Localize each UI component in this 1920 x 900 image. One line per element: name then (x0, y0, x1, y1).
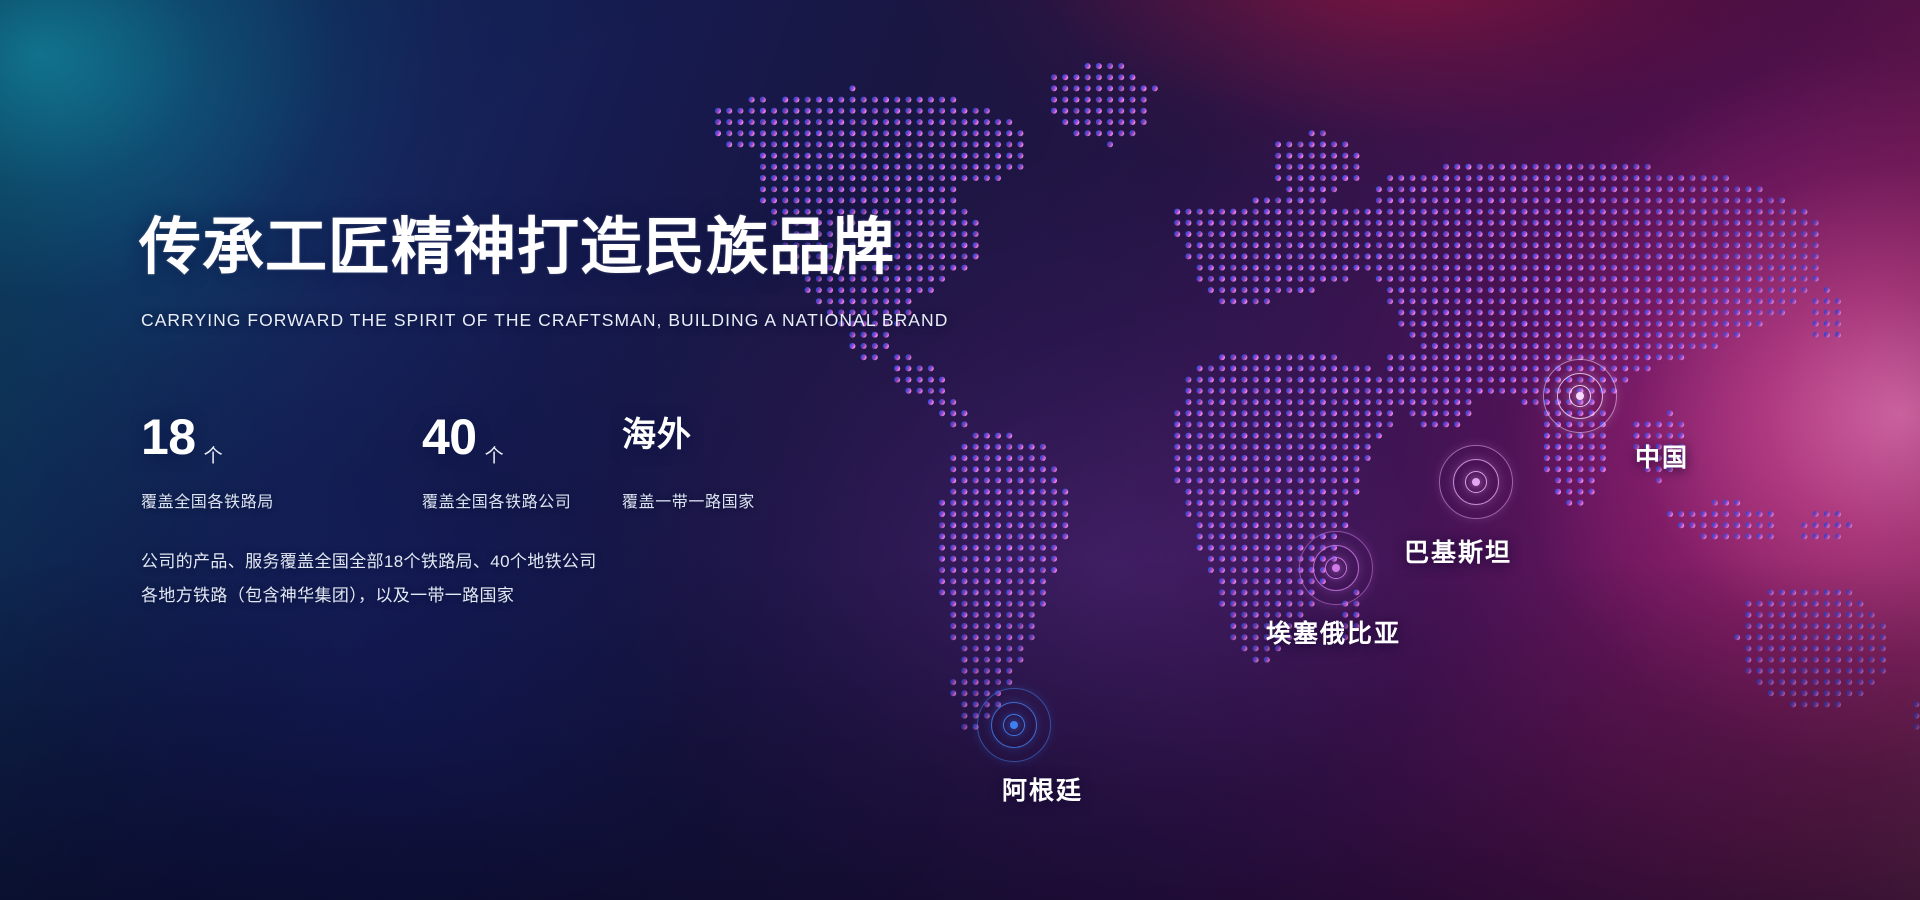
map-marker-ethiopia[interactable] (1286, 518, 1386, 618)
stat-value-row: 18 个 (141, 412, 422, 470)
map-marker-label-china: 中国 (1635, 438, 1689, 474)
page-subtitle: CARRYING FORWARD THE SPIRIT OF THE CRAFT… (141, 310, 948, 331)
map-marker-argentina[interactable] (964, 675, 1064, 775)
stat-value: 18 (141, 412, 196, 462)
map-marker-label-ethiopia: 埃塞俄比亚 (1266, 614, 1401, 650)
body-paragraph: 公司的产品、服务覆盖全国全部18个铁路局、40个地铁公司 各地方铁路（包含神华集… (141, 545, 597, 613)
stat-value: 海外 (622, 418, 692, 452)
map-marker-china[interactable] (1530, 346, 1630, 446)
marker-pulse-rings-icon (1426, 432, 1526, 532)
map-marker-pakistan[interactable] (1426, 432, 1526, 532)
marker-pulse-rings-icon (964, 675, 1064, 775)
marker-pulse-rings-icon (1286, 518, 1386, 618)
stat-block-railway-bureaus: 18 个 覆盖全国各铁路局 (141, 412, 422, 512)
marker-center-dot-icon (1576, 392, 1584, 400)
map-marker-label-argentina: 阿根廷 (1002, 771, 1083, 807)
page-title: 传承工匠精神打造民族品牌 (139, 196, 895, 286)
stat-value: 40 (422, 412, 477, 462)
marker-center-dot-icon (1472, 478, 1480, 486)
stat-unit: 个 (485, 447, 504, 466)
marker-center-dot-icon (1010, 721, 1018, 729)
body-line-1: 公司的产品、服务覆盖全国全部18个铁路局、40个地铁公司 (141, 545, 597, 579)
stat-unit: 个 (204, 447, 223, 466)
content-column: 传承工匠精神打造民族品牌 CARRYING FORWARD THE SPIRIT… (139, 0, 899, 900)
stat-block-overseas: 海外 覆盖一带一路国家 (622, 412, 755, 512)
stat-caption: 覆盖全国各铁路局 (141, 488, 422, 512)
stat-caption: 覆盖全国各铁路公司 (422, 488, 622, 512)
banner-stage: 阿根廷埃塞俄比亚巴基斯坦中国 传承工匠精神打造民族品牌 CARRYING FOR… (0, 0, 1920, 900)
map-marker-label-pakistan: 巴基斯坦 (1404, 533, 1512, 569)
stat-value-row: 海外 (622, 412, 755, 470)
stat-block-railway-companies: 40 个 覆盖全国各铁路公司 (422, 412, 622, 512)
body-line-2: 各地方铁路（包含神华集团），以及一带一路国家 (141, 579, 597, 613)
marker-center-dot-icon (1332, 564, 1340, 572)
stat-caption: 覆盖一带一路国家 (622, 488, 755, 512)
stat-value-row: 40 个 (422, 412, 622, 470)
stats-row: 18 个 覆盖全国各铁路局 40 个 覆盖全国各铁路公司 海外 覆盖一带一路国家 (141, 412, 755, 512)
marker-pulse-rings-icon (1530, 346, 1630, 446)
